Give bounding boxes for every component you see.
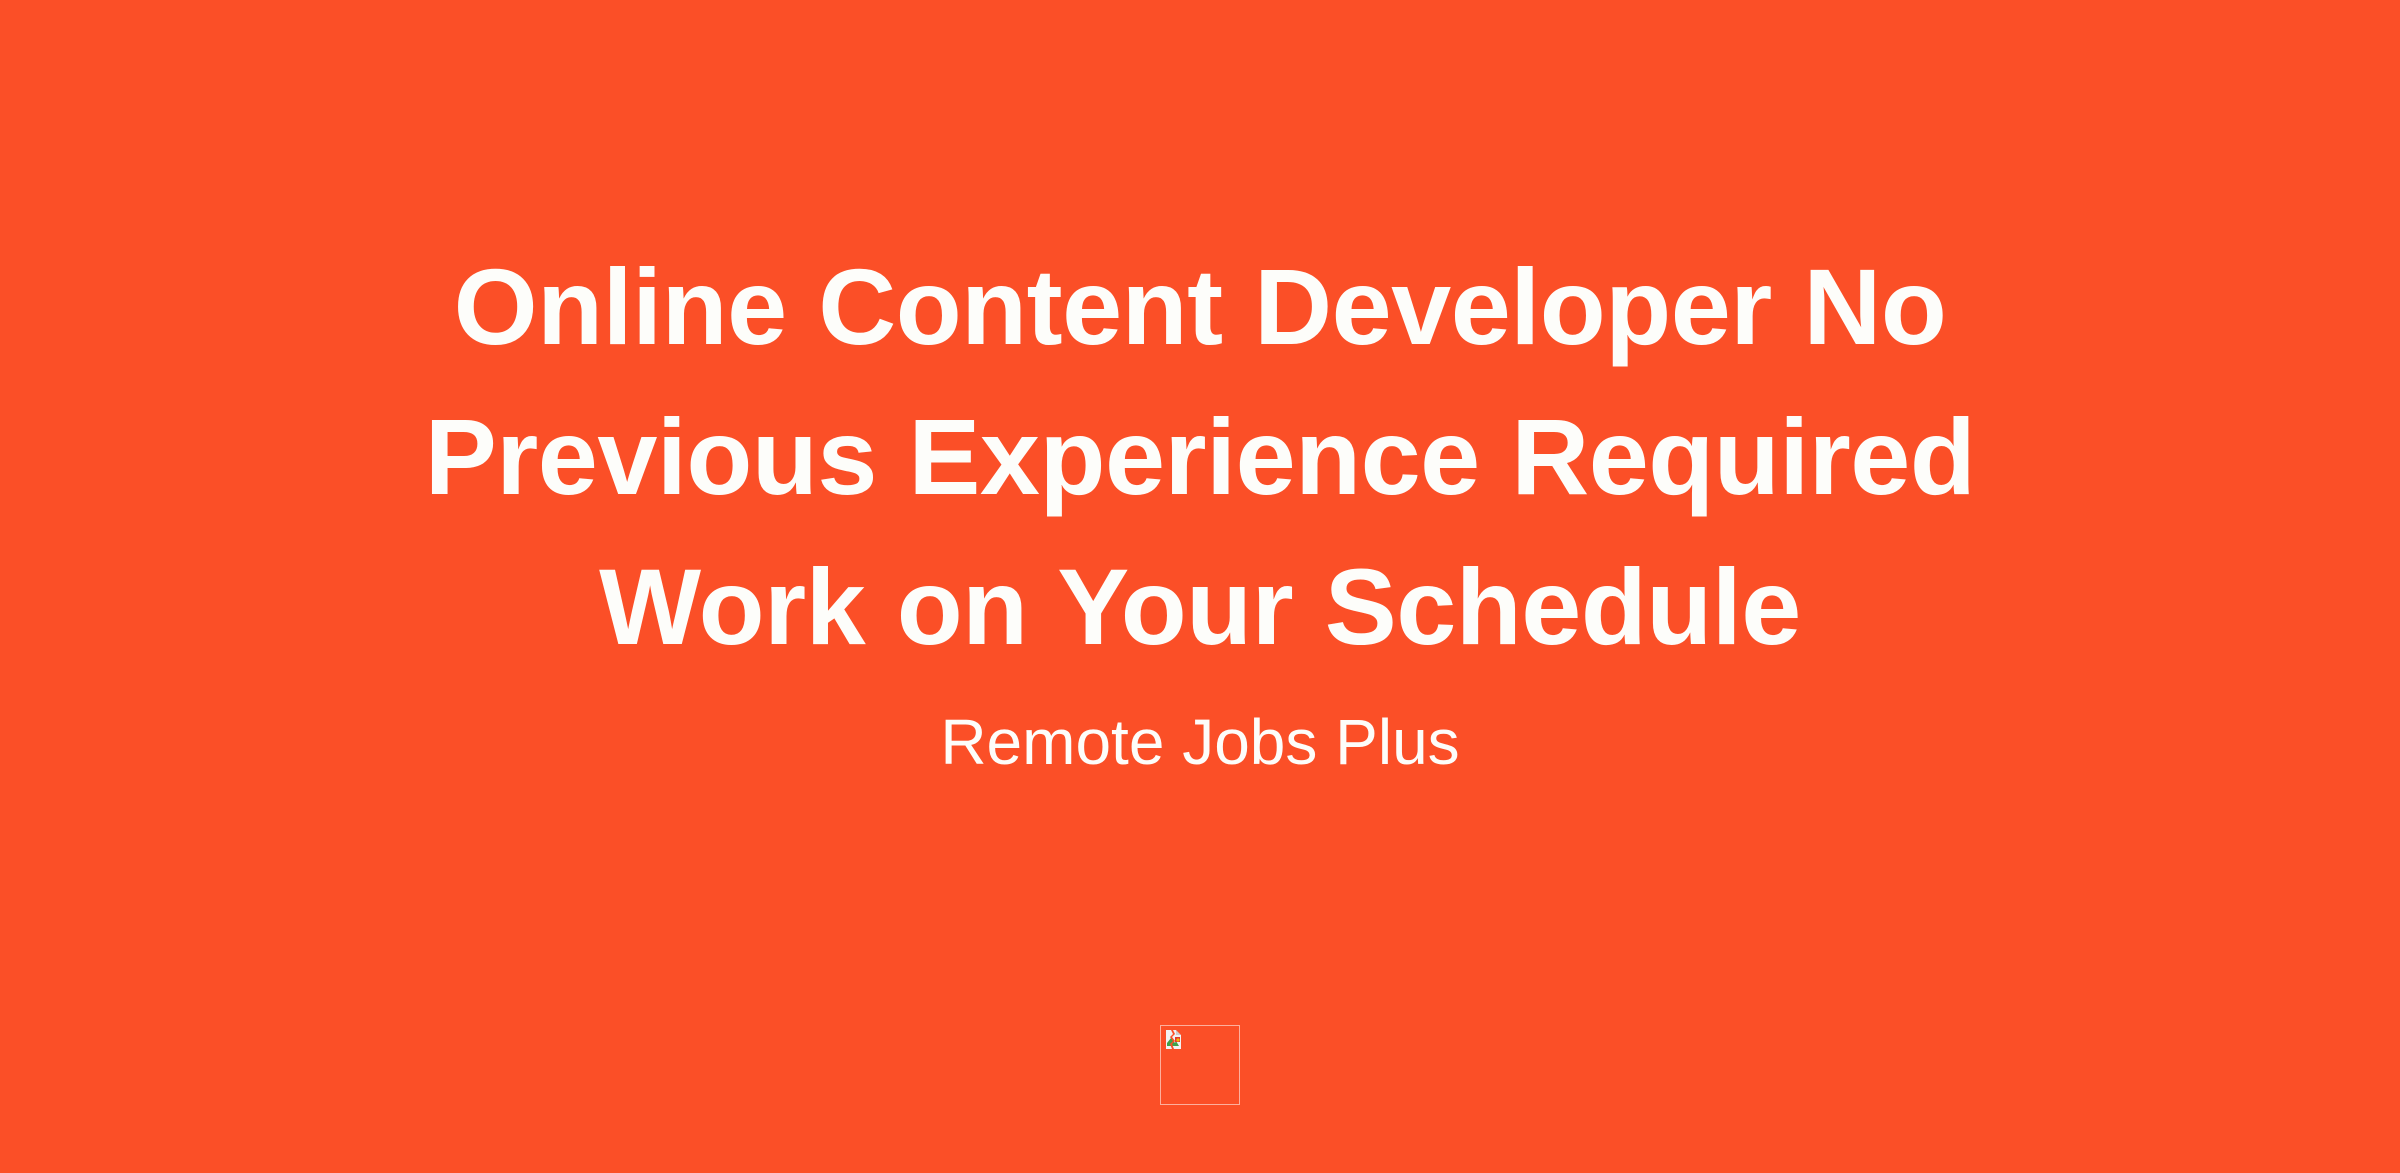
media-slot [0,1025,2400,1105]
broken-image-placeholder[interactable] [1160,1025,1240,1105]
hero-section: Online Content Developer No Previous Exp… [0,0,2400,786]
page-subtitle: Remote Jobs Plus [300,698,2100,786]
broken-image-icon [1164,1029,1186,1051]
slide-root: Online Content Developer No Previous Exp… [0,0,2400,1173]
page-title: Online Content Developer No Previous Exp… [370,232,2030,682]
